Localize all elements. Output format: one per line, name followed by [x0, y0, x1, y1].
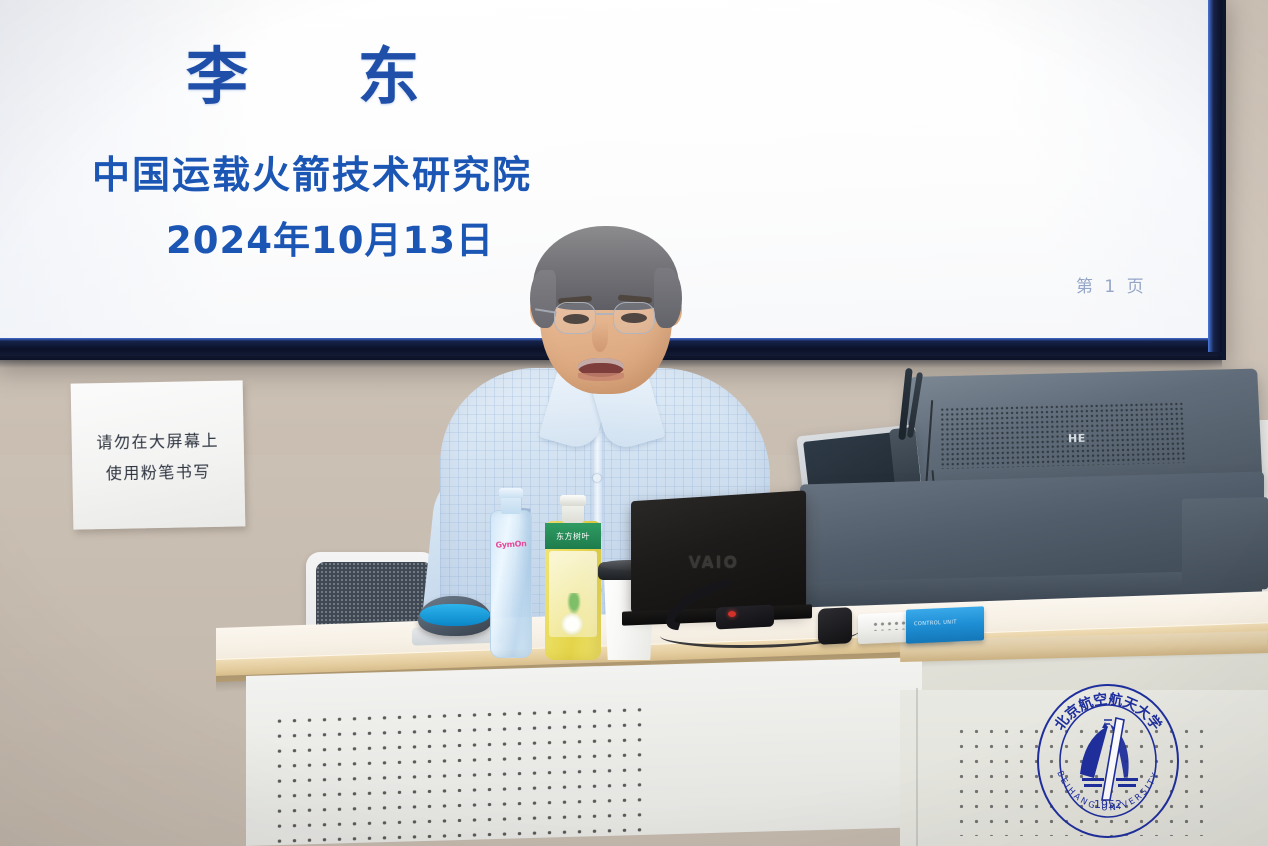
wall-notice-sign: 请勿在大屏幕上 使用粉笔书写 [71, 380, 246, 529]
speaker-hair-side-right [654, 268, 682, 328]
lectern-console-right-block [1182, 497, 1268, 591]
tea-label-leaf-graphic [567, 593, 581, 615]
tea-bottle-neck [562, 503, 584, 523]
perforated-vent-panel-left [272, 702, 647, 846]
console-brand-label: HE [1068, 432, 1086, 445]
svg-text:1952: 1952 [1094, 798, 1122, 811]
slide-title: 李 东 [186, 26, 464, 116]
eyeglasses-lens-left [554, 302, 596, 334]
water-bottle-cap [499, 488, 523, 498]
headset-status-led [728, 611, 736, 617]
slide-page-number: 第 1 页 [1076, 272, 1147, 297]
speaker-lower-lip [578, 373, 624, 381]
lecture-hall-scene: 李 东 中国运载火箭技术研究院 2024年10月13日 第 1 页 请勿在大屏幕… [0, 0, 1268, 846]
tea-bottle[interactable]: 东方树叶 [545, 495, 601, 660]
sign-line-2: 使用粉笔书写 [106, 457, 211, 483]
eyeglasses-bridge [596, 313, 613, 315]
tea-bottle-green-band: 东方树叶 [545, 523, 601, 549]
desk-panel-seam [916, 688, 918, 846]
tea-label-flower-graphic [561, 613, 583, 635]
beihang-university-logo: 北京航空航天大学 BEIHANG UNIVERSITY 1952 [1032, 682, 1184, 840]
tea-bottle-cap [560, 495, 586, 506]
power-adapter[interactable] [818, 607, 852, 645]
slide-organization: 中国运载火箭技术研究院 [92, 144, 532, 199]
speaker-grille [940, 401, 1187, 469]
screen-bezel-right [1208, 0, 1222, 352]
eyeglasses-lens-right [613, 302, 655, 334]
shirt-button [593, 474, 601, 482]
speaker-hair-side-left [530, 270, 556, 328]
sign-line-1: 请勿在大屏幕上 [96, 426, 219, 452]
speaker-nose [592, 322, 608, 352]
water-bottle-label: GymOn [492, 517, 531, 571]
laptop-brand-logo: VAIO [689, 552, 739, 571]
tea-brand-text: 东方树叶 [556, 531, 590, 542]
mouse-blue-accent [420, 604, 490, 626]
water-bottle[interactable]: GymOn [490, 488, 532, 658]
